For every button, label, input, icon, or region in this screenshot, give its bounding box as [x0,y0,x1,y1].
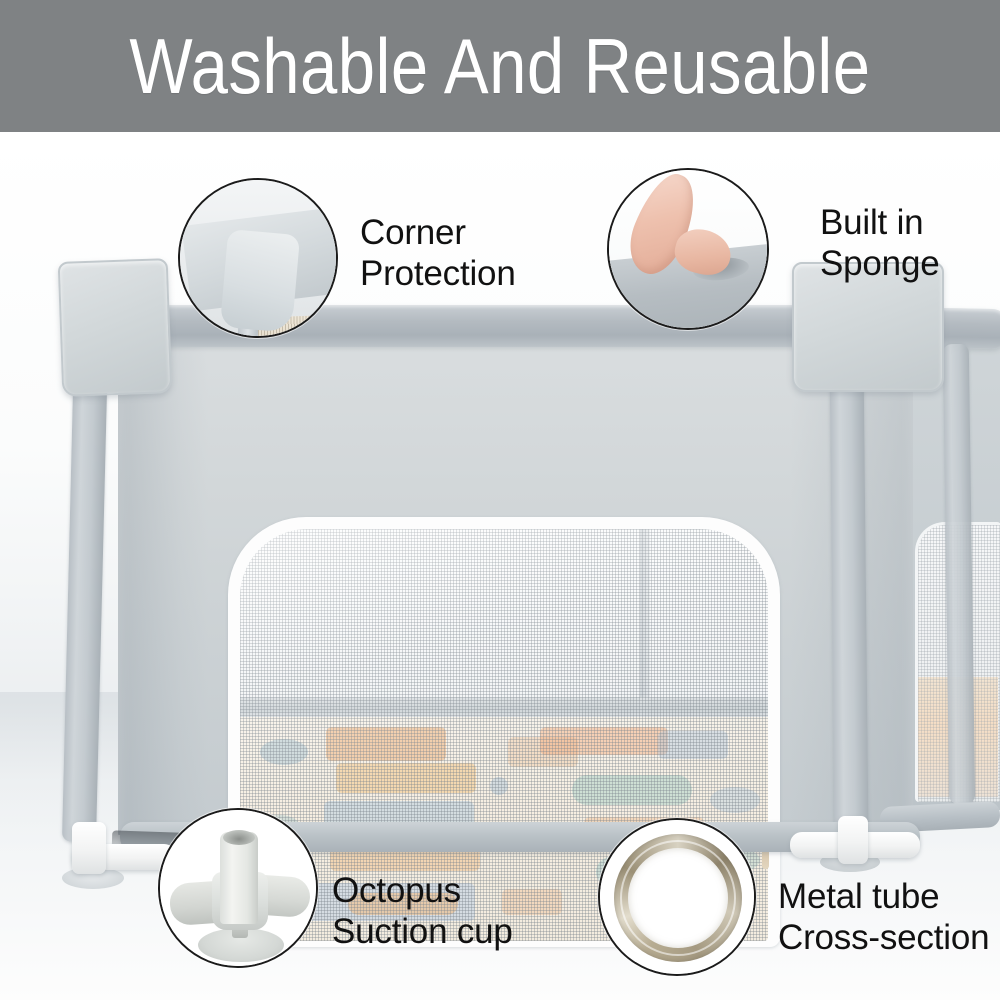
callout-built-in-sponge-image [607,168,769,330]
mat-shape [490,777,508,795]
product-infographic: Washable And Reusable [0,0,1000,1000]
background-baseboard [240,697,768,719]
background-door-frame [640,529,650,701]
metal-ring-highlight [620,840,736,956]
callout-metal-tube-image [598,818,756,976]
callout-octopus-suction-cup-label: Octopus Suction cup [332,870,513,953]
plastic-connector-left-vertical [72,822,106,874]
header-banner: Washable And Reusable [0,0,1000,132]
mat-shape [710,787,760,813]
banner-title: Washable And Reusable [129,27,870,105]
background-wall [240,529,768,704]
mat-shape [572,775,692,805]
callout-corner-protection-image [178,178,338,338]
playpen-post-right [829,347,868,842]
mat-shape [260,739,308,765]
mat-shape [658,731,728,759]
mat-shape [540,727,668,755]
corner-cover-front-icon [220,229,300,333]
callout-metal-tube-label: Metal tube Cross-section [778,876,989,959]
suction-tube-opening-icon [223,830,255,845]
playpen-post-left [62,347,108,843]
padded-flap-left [58,258,173,397]
callout-built-in-sponge-label: Built in Sponge [820,202,939,285]
callout-corner-protection-label: Corner Protection [360,212,516,295]
mat-shape [336,763,476,793]
fabric-shading-left [118,337,208,835]
product-photo-scene: Corner Protection Built in Sponge Octopu… [0,132,1000,1000]
plastic-connector-right-vertical [838,816,868,864]
suction-tube-icon [220,832,258,924]
mat-shape [326,727,446,761]
callout-octopus-suction-cup-image [158,808,318,968]
